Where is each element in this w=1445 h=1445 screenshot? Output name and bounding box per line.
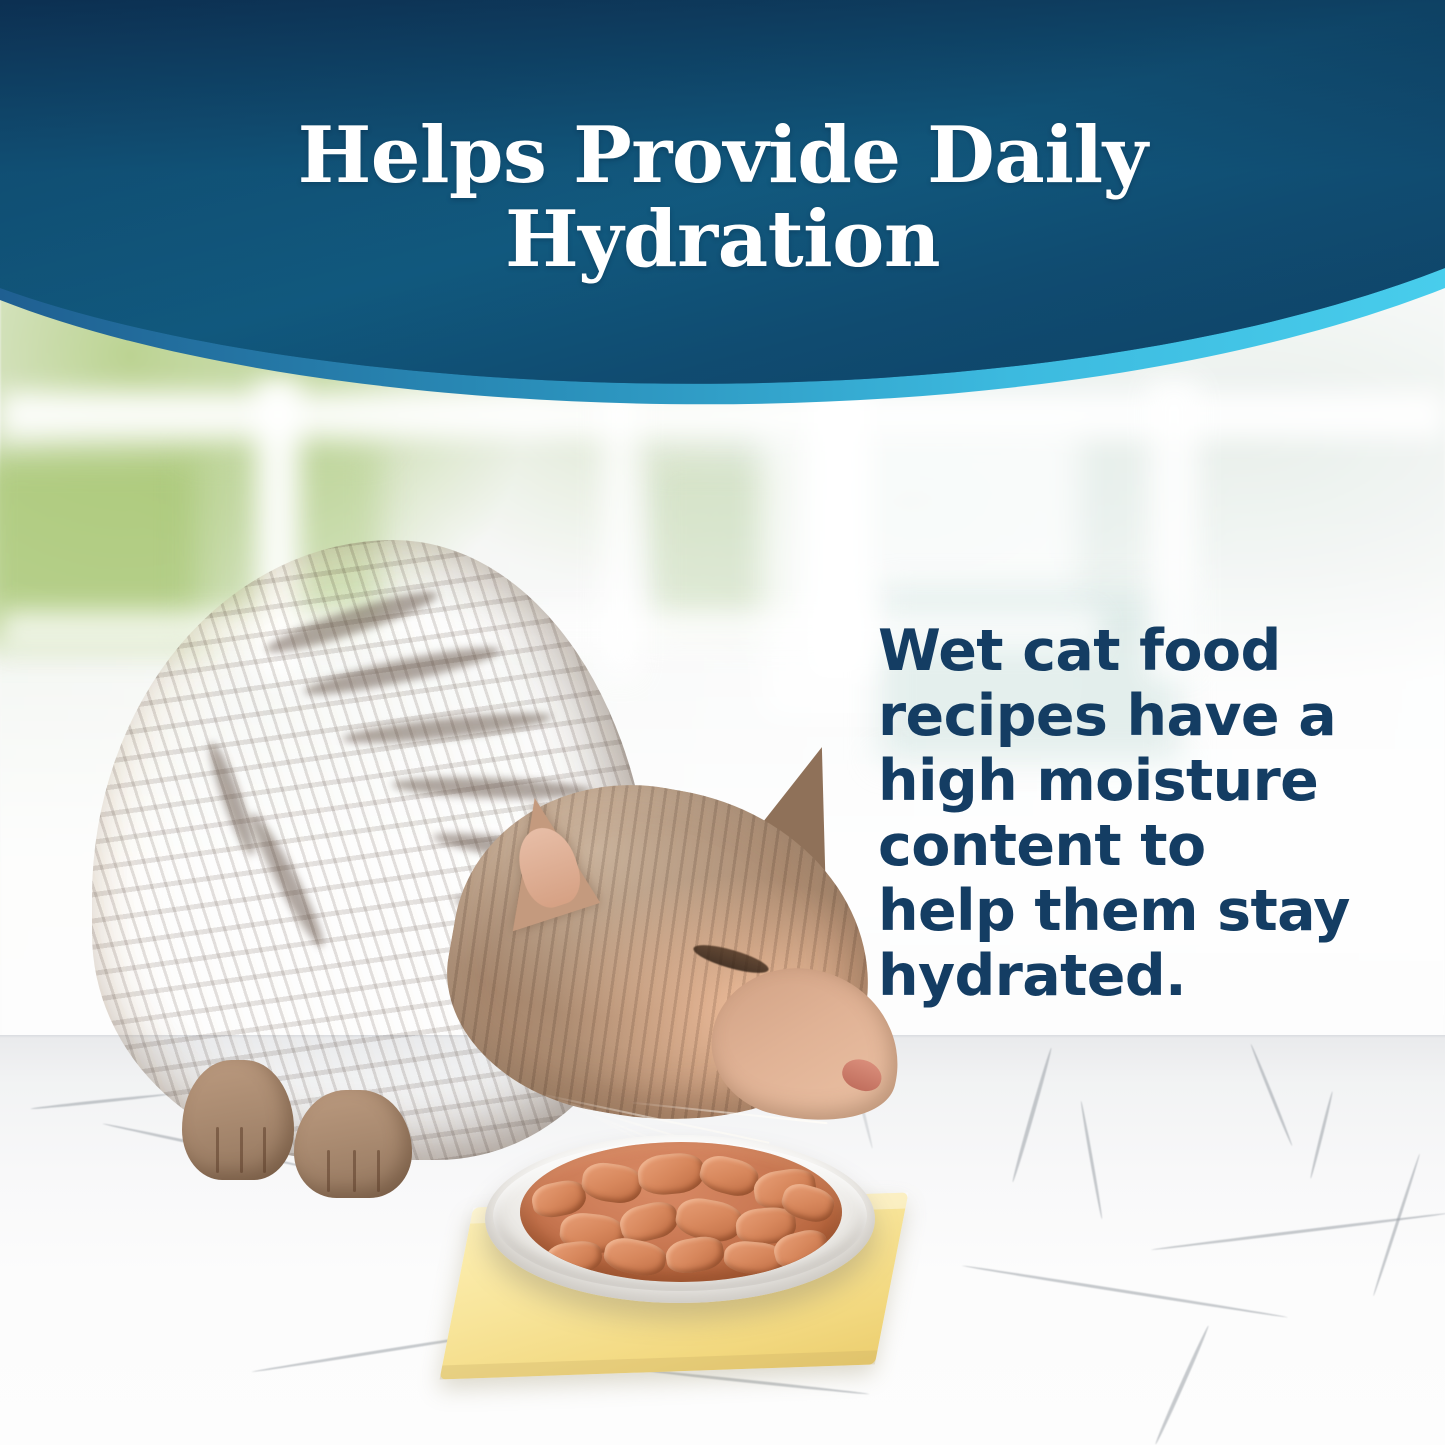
headline-line-1: Helps Provide Daily <box>298 110 1148 201</box>
headline-line-2: Hydration <box>0 198 1445 282</box>
wet-cat-food <box>520 1142 842 1282</box>
cat-paw <box>294 1090 412 1198</box>
page-title: Helps Provide Daily Hydration <box>0 114 1445 282</box>
cat-paw <box>182 1060 294 1180</box>
cat-photo <box>72 500 842 1200</box>
promo-graphic: Helps Provide Daily Hydration Wet cat fo… <box>0 0 1445 1445</box>
body-paragraph: Wet cat food recipes have a high moistur… <box>878 619 1356 1009</box>
